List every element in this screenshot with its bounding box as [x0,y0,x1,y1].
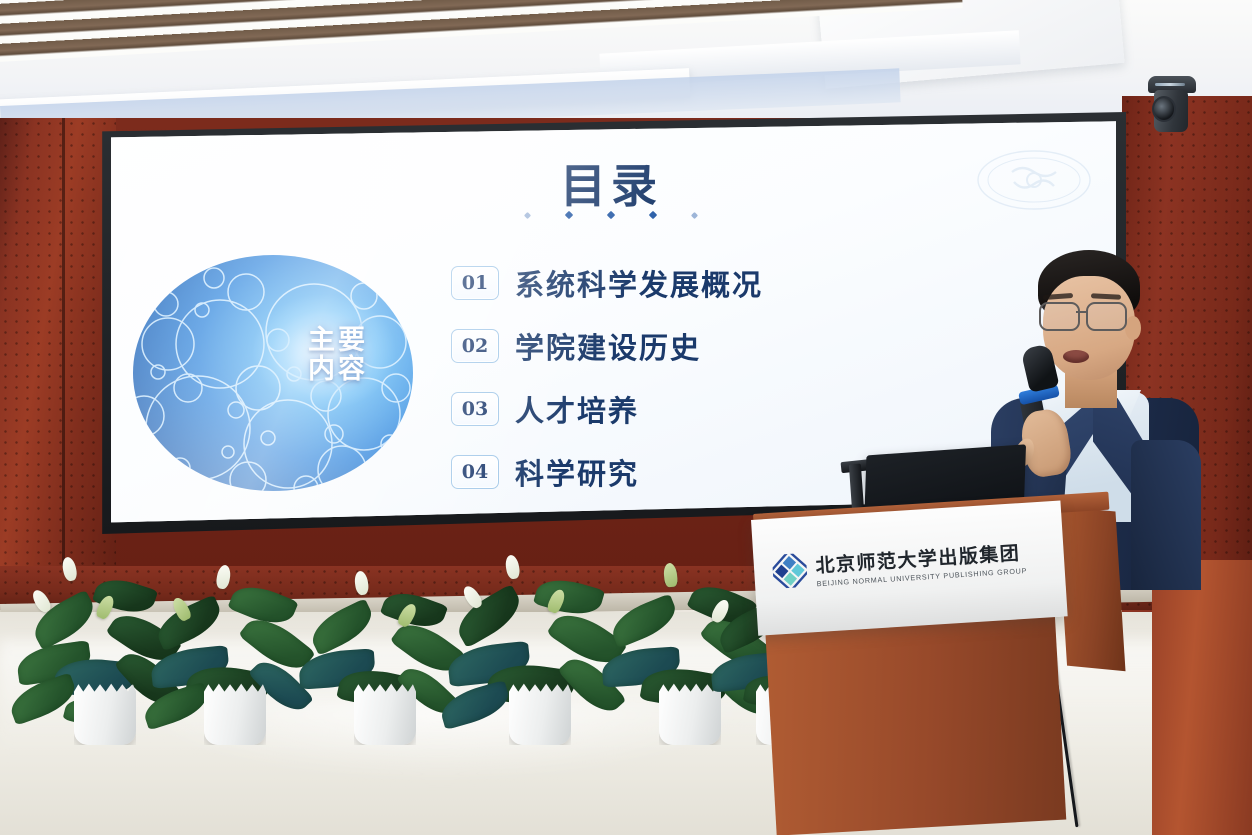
lectern-side [1057,506,1126,671]
glasses-lens-left [1039,302,1080,331]
presenter-mouth [1063,350,1089,363]
toc-number-badge: 02 [451,329,499,363]
camera-lens-icon [1152,96,1176,122]
toc-number-badge: 03 [451,392,499,426]
main-content-circle-graphic: 主要 内容 [128,248,418,498]
toc-item-label: 系统科学发展概况 [515,262,763,304]
diamond-logo-icon [772,553,808,589]
circle-graphic-label: 主要 内容 [278,326,398,384]
presenter-arm-right [1131,440,1201,590]
toc-item[interactable]: 03 人才培养 [451,388,1051,430]
circle-label-line2: 内容 [278,355,398,384]
toc-item-label: 学院建设历史 [515,325,701,367]
toc-item-label: 科学研究 [515,451,639,493]
glasses-lens-right [1086,302,1127,331]
toc-number-badge: 04 [451,455,499,489]
plant-pot [509,683,571,745]
conference-room-scene: 目录 [0,0,1252,835]
toc-item[interactable]: 02 学院建设历史 [451,325,1051,367]
potted-plant [150,539,320,745]
plant-row [0,500,800,745]
glasses-bridge [1076,311,1086,313]
publisher-logo-text: 北京师范大学出版集团 BEIJING NORMAL UNIVERSITY PUB… [815,538,1028,588]
plant-pot [354,683,416,745]
circle-label-line1: 主要 [278,326,398,355]
slide-title: 目录 [560,150,662,216]
toc-item[interactable]: 01 系统科学发展概况 [451,262,1051,304]
lectern: 北京师范大学出版集团 BEIJING NORMAL UNIVERSITY PUB… [745,498,1115,835]
toc-item-label: 人才培养 [515,388,639,430]
lectern-body [765,610,1066,835]
ptz-camera-icon [1148,76,1196,138]
title-divider-dots [525,212,697,218]
eyeglasses-icon [1039,302,1143,328]
toc-number-badge: 01 [451,266,499,300]
camera-led-strip [1155,83,1185,86]
wood-pillar-right [1152,560,1252,835]
plant-pot [204,683,266,745]
university-seal-watermark [974,148,1094,212]
plant-pot [74,683,136,745]
